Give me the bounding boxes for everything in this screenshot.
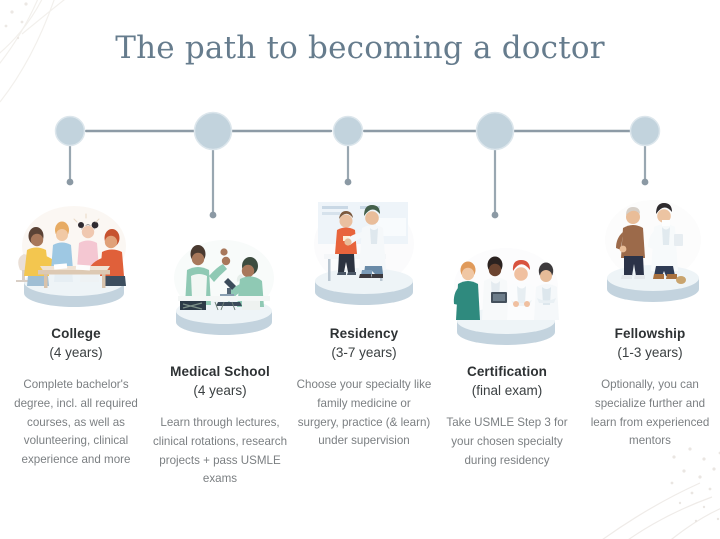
step-college: College (4 years) Complete bachelor's de… <box>6 326 146 470</box>
timeline-node-residency[interactable] <box>334 117 363 146</box>
step-body: Choose your specialty like family medici… <box>296 376 432 451</box>
students-with-microscope-illustration <box>158 232 290 344</box>
doctor-examining-patient-illustration <box>298 192 430 316</box>
step-years: (3-7 years) <box>296 344 432 362</box>
step-heading: Medical School <box>148 364 292 381</box>
step-years: (4 years) <box>148 382 292 400</box>
infographic-canvas: The path to becoming a doctor <box>0 0 720 539</box>
timeline-node-college[interactable] <box>56 117 85 146</box>
doctor-with-elderly-patient-illustration <box>588 192 718 312</box>
step-heading: Residency <box>296 326 432 343</box>
step-medical-school: Medical School (4 years) Learn through l… <box>148 364 292 489</box>
step-years: (4 years) <box>6 344 146 362</box>
step-body: Complete bachelor's degree, incl. all re… <box>6 376 146 470</box>
step-heading: Fellowship <box>583 326 717 343</box>
step-body: Learn through lectures, clinical rotatio… <box>148 414 292 489</box>
step-body: Take USMLE Step 3 for your chosen specia… <box>437 414 577 470</box>
step-heading: College <box>6 326 146 343</box>
students-around-table-illustration <box>6 196 142 316</box>
step-fellowship: Fellowship (1-3 years) Optionally, you c… <box>583 326 717 451</box>
timeline-node-certification[interactable] <box>477 113 514 150</box>
step-body: Optionally, you can specialize further a… <box>583 376 717 451</box>
step-years: (1-3 years) <box>583 344 717 362</box>
step-years: (final exam) <box>437 382 577 400</box>
timeline-node-medical-school[interactable] <box>195 113 232 150</box>
timeline-node-fellowship[interactable] <box>631 117 660 146</box>
step-residency: Residency (3-7 years) Choose your specia… <box>296 326 432 451</box>
medical-team-group-illustration <box>438 240 574 352</box>
step-heading: Certification <box>437 364 577 381</box>
step-certification: Certification (final exam) Take USMLE St… <box>437 364 577 470</box>
